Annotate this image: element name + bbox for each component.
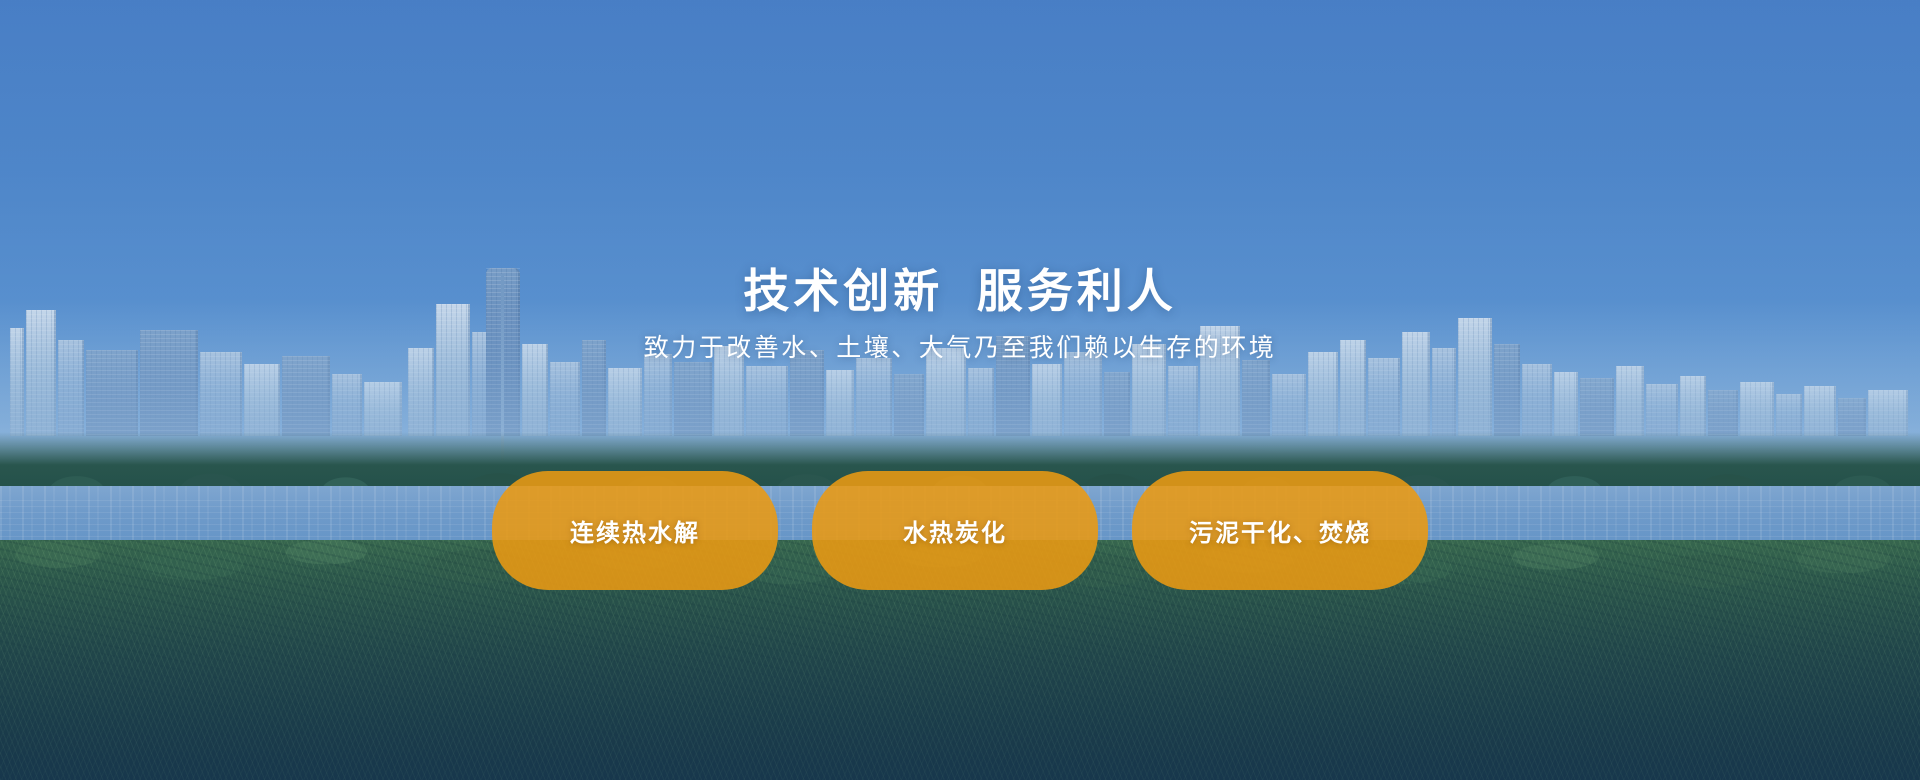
hero-copy: 技术创新 服务利人 致力于改善水、土壤、大气乃至我们赖以生存的环境 xyxy=(0,0,1920,780)
hero-subtitle: 致力于改善水、土壤、大气乃至我们赖以生存的环境 xyxy=(644,336,1277,361)
hero-banner: 技术创新 服务利人 致力于改善水、土壤、大气乃至我们赖以生存的环境 连续热水解 … xyxy=(0,0,1920,780)
hero-button-row: 连续热水解 水热炭化 污泥干化、焚烧 xyxy=(0,471,1920,590)
button-continuous-thermal-hydrolysis[interactable]: 连续热水解 xyxy=(492,471,778,590)
button-hydrothermal-carbonization[interactable]: 水热炭化 xyxy=(812,471,1098,590)
hero-title: 技术创新 服务利人 xyxy=(743,268,1177,314)
button-sludge-drying-incineration[interactable]: 污泥干化、焚烧 xyxy=(1132,471,1428,590)
